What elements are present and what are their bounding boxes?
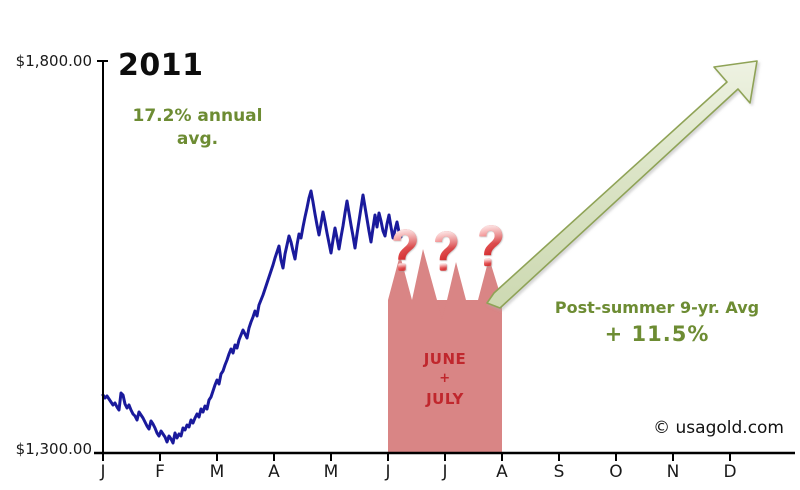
chart-canvas: $1,800.00 $1,300.00 2011 17.2% annual av…: [0, 0, 800, 490]
summer-band-month-1: JUNE: [388, 348, 502, 371]
post-summer-label: Post-summer 9-yr. Avg: [555, 298, 759, 317]
x-axis-label-j-5: J: [373, 462, 403, 482]
copyright-notice: © usagold.com: [653, 418, 784, 438]
summer-band-month-2: JULY: [388, 388, 502, 411]
question-mark-3: [479, 225, 502, 266]
gold-price-line: [103, 191, 401, 443]
growth-arrow: [487, 61, 757, 308]
summer-band-plus: +: [388, 371, 502, 388]
x-axis-label-m-2: M: [202, 462, 232, 482]
x-axis-label-f-1: F: [145, 462, 175, 482]
y-axis-top-label: $1,800.00: [6, 52, 92, 70]
y-axis-bottom-label: $1,300.00: [6, 440, 92, 458]
x-axis-label-d-11: D: [715, 462, 745, 482]
x-axis-label-j-6: J: [430, 462, 460, 482]
x-axis-label-n-10: N: [658, 462, 688, 482]
post-summer-annotation: Post-summer 9-yr. Avg + 11.5%: [528, 296, 786, 350]
post-summer-value: + 11.5%: [528, 319, 786, 349]
x-axis-label-s-8: S: [544, 462, 574, 482]
summer-band-label: JUNE + JULY: [388, 348, 502, 411]
question-mark-2: [435, 231, 457, 271]
x-axis-label-a-7: A: [487, 462, 517, 482]
x-axis-label-j-0: J: [88, 462, 118, 482]
question-mark-1: [393, 229, 416, 271]
annual-average-annotation: 17.2% annual avg.: [110, 105, 285, 151]
x-axis-label-m-4: M: [316, 462, 346, 482]
x-axis-label-o-9: O: [601, 462, 631, 482]
x-axis-label-a-3: A: [259, 462, 289, 482]
page-title: 2011: [118, 48, 204, 83]
